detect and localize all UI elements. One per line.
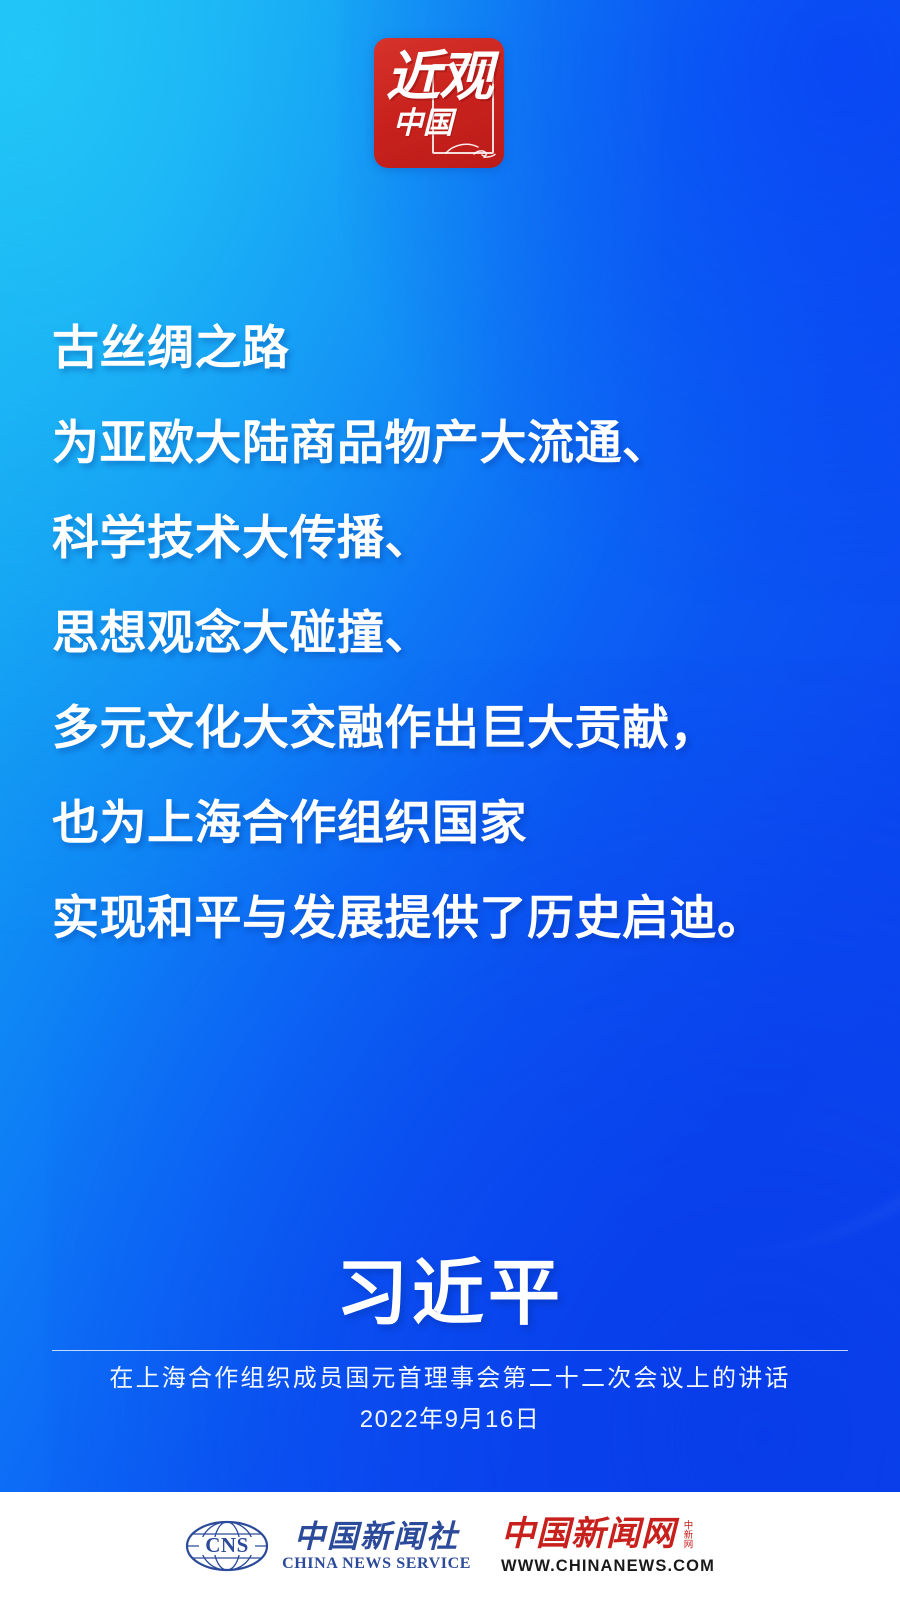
footer-logo-row: CNS 中国新闻社 CHINA NEWS SERVICE 中国新闻网 中新网 W… — [185, 1518, 715, 1575]
brand-logo-title-secondary: 中国 — [386, 108, 460, 140]
cns-name-cn: 中国新闻社 — [294, 1521, 459, 1552]
speaker-name: 习近平 — [0, 1252, 900, 1336]
footer-bar: CNS 中国新闻社 CHINA NEWS SERVICE 中国新闻网 中新网 W… — [0, 1492, 900, 1600]
quote-line: 思想观念大碰撞、 — [52, 585, 852, 680]
quote-line: 古丝绸之路 — [52, 300, 852, 395]
cloud-swirl-icon — [444, 138, 496, 158]
speech-title: 在上海合作组织成员国元首理事会第二十二次会议上的讲话 — [0, 1362, 900, 1396]
chinanews-wordmark: 中国新闻网 中新网 — [501, 1518, 692, 1552]
quote-block: 古丝绸之路 为亚欧大陆商品物产大流通、 科学技术大传播、 思想观念大碰撞、 多元… — [52, 300, 852, 965]
brand-logo-artwork: 近观 中国 — [374, 38, 504, 168]
quote-line: 实现和平与发展提供了历史启迪。 — [52, 870, 852, 965]
attribution-divider — [52, 1350, 848, 1351]
cns-name-en: CHINA NEWS SERVICE — [282, 1556, 471, 1572]
poster-root: 近观 中国 古丝绸之路 为亚欧大陆商品物产大流通、 科学技术大传播、 思想观念大… — [0, 0, 900, 1600]
china-news-service-wordmark: 中国新闻社 CHINA NEWS SERVICE — [282, 1521, 471, 1572]
attribution-block: 习近平 在上海合作组织成员国元首理事会第二十二次会议上的讲话 2022年9月16… — [0, 1252, 900, 1436]
quote-line: 也为上海合作组织国家 — [52, 775, 852, 870]
quote-line: 科学技术大传播、 — [52, 490, 852, 585]
quote-line: 多元文化大交融作出巨大贡献， — [52, 680, 852, 775]
speech-date: 2022年9月16日 — [0, 1404, 900, 1436]
brand-logo-title-primary: 近观 — [383, 48, 495, 106]
chinanews-url[interactable]: WWW.CHINANEWS.COM — [501, 1558, 715, 1575]
chinanews-logo[interactable]: 中国新闻网 中新网 WWW.CHINANEWS.COM — [501, 1518, 715, 1575]
svg-text:CNS: CNS — [205, 1533, 249, 1557]
quote-line: 为亚欧大陆商品物产大流通、 — [52, 395, 852, 490]
china-news-service-logo[interactable]: CNS 中国新闻社 CHINA NEWS SERVICE — [185, 1520, 471, 1572]
brand-logo[interactable]: 近观 中国 — [374, 38, 504, 168]
chinanews-name-cn: 中国新闻网 — [501, 1518, 676, 1552]
chinanews-name-short: 中新网 — [681, 1520, 692, 1552]
globe-icon: CNS — [185, 1520, 269, 1572]
